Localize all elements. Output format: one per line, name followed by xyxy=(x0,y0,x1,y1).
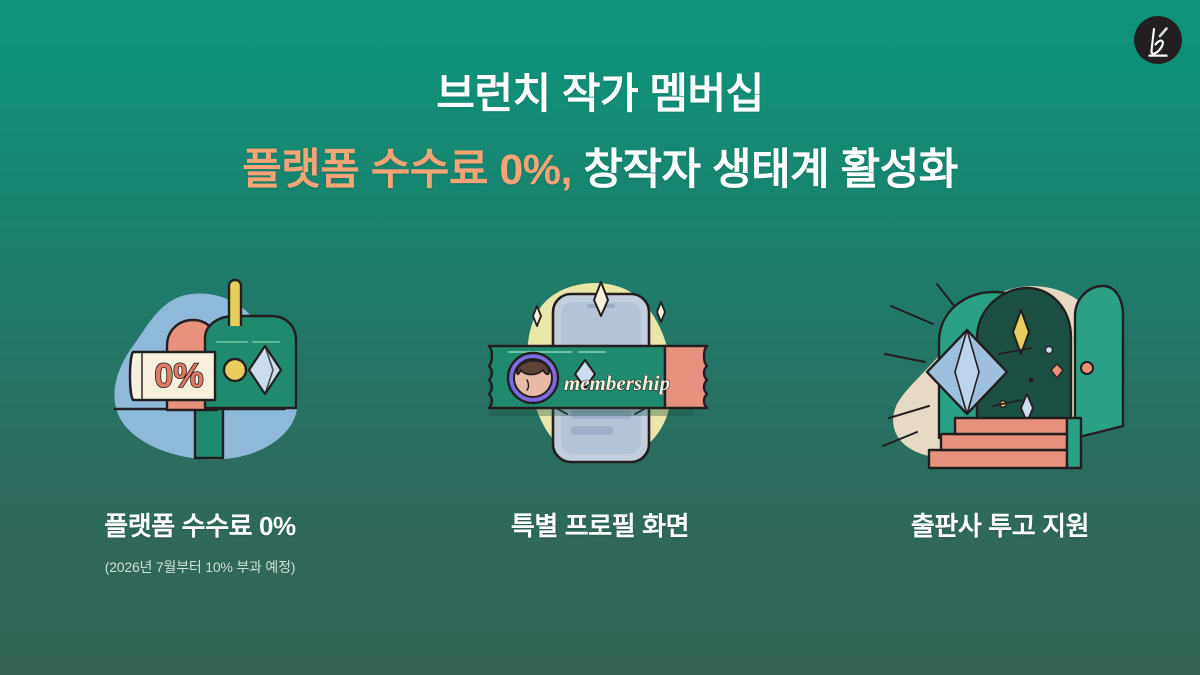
feature-item-profile: membership 특별 프로필 화면 xyxy=(400,258,800,577)
membership-ticket-phone-illustration: membership xyxy=(475,258,725,488)
feature-label-profile: 특별 프로필 화면 xyxy=(511,506,689,543)
feature-item-fee: 0% 플랫폼 수수료 0% (2026년 7월부터 10% 부과 예정) xyxy=(0,258,400,577)
subtitle-accent: 플랫폼 수수료 0%, xyxy=(242,146,572,194)
feature-label-publisher: 출판사 투고 지원 xyxy=(911,506,1089,543)
page-title: 브런치 작가 멤버십 xyxy=(0,70,1200,118)
open-door-stairs-illustration xyxy=(875,258,1125,488)
feature-item-publisher: 출판사 투고 지원 xyxy=(800,258,1200,577)
feature-list: 0% 플랫폼 수수료 0% (2026년 7월부터 10% 부과 예정) xyxy=(0,258,1200,577)
mailbox-zero-fee-illustration: 0% xyxy=(75,258,325,488)
membership-ticket-text: membership xyxy=(564,371,670,395)
subtitle-rest: 창작자 생태계 활성화 xyxy=(572,146,958,194)
mailbox-zero-percent-text: 0% xyxy=(154,357,203,395)
page-subtitle: 플랫폼 수수료 0%, 창작자 생태계 활성화 xyxy=(0,146,1200,195)
feature-note-fee: (2026년 7월부터 10% 부과 예정) xyxy=(105,557,295,577)
brunch-b-logo-icon[interactable] xyxy=(1134,16,1182,64)
slide-root: 브런치 작가 멤버십 플랫폼 수수료 0%, 창작자 생태계 활성화 xyxy=(0,0,1200,675)
feature-label-fee: 플랫폼 수수료 0% xyxy=(104,506,296,543)
